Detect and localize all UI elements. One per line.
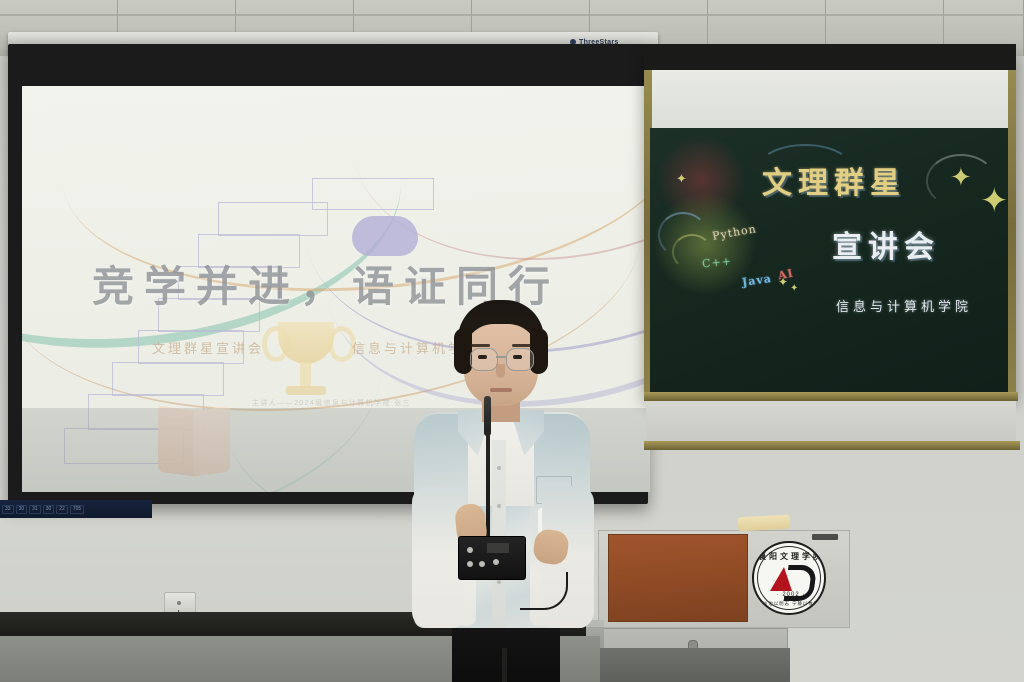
chalk-star-icon: ✦ [676,172,687,185]
staircase-graphic [312,178,434,210]
microphone-icon [484,396,491,436]
podium-paper [738,515,791,532]
receiver-knob [493,559,499,565]
seat-chip: 22 [56,505,68,514]
classroom-presentation-scene: ThreeStars [0,0,1024,682]
seat-label-strip: 33 30 31 30 22 705 [0,500,152,518]
chalk-tray-rail-lower [644,441,1020,450]
seal-motto: 淡泊以明志 宁静以致远 [754,601,826,607]
blackboard-surface: ✦ ✦ ✦ ✦ ✦ Python Java AI C++ 文理群星 宣讲会 信息… [650,128,1008,392]
blackboard-headline: 文理群星 [762,158,906,202]
trophy-icon [300,362,311,388]
university-seal: 襄阳文理学院 · 2002 · 淡泊以明志 宁静以致远 [752,541,826,615]
podium-wood-panel [608,534,748,622]
presenter: Lab [396,300,604,682]
blackboard-top-shadow [644,44,1016,70]
slide-subtitle-left: 文理群星宣讲会 [152,338,264,357]
seal-year: · 2002 · [754,592,826,598]
jacket-button [497,466,501,470]
game-controller-icon [352,216,418,256]
presenter-eye-left [478,355,487,359]
seat-chip: 30 [43,505,55,514]
presenter-nose [496,364,505,378]
presenter-hair-left [454,328,472,374]
outlet-socket-hole [177,601,181,605]
receiver-display [487,543,509,553]
podium-handle-slot [812,534,838,540]
seat-chip: 705 [70,505,84,514]
glasses-bridge [496,356,506,358]
blackboard-under-panel [646,401,1016,441]
blackboard-projection-strip [652,70,1008,128]
glasses-icon [506,348,534,371]
presenter-eye-right [513,355,522,359]
presenter-hair-right [530,328,548,374]
blackboard-headline-2: 宣讲会 [832,222,940,266]
trouser-seam [502,648,507,682]
chalk-tray-rail [644,392,1018,401]
slide-footnote: 主讲人——2024级信息与计算机学院 张三 [252,398,411,408]
staircase-graphic [112,362,224,396]
wireless-receiver-box [458,536,526,580]
seat-chip: 31 [29,505,41,514]
presenter-sleeve-left [412,486,464,628]
seat-chip: 33 [2,505,14,514]
glasses-icon [470,348,498,371]
chalk-word-ai: AI [777,267,795,283]
chalk-star-icon: ✦ [980,184,1008,218]
presenter-brow-right [512,344,532,347]
blackboard-subline: 信息与计算机学院 [836,296,972,315]
chalk-star-icon: ✦ [790,284,798,294]
receiver-knob [479,561,485,567]
receiver-knob [467,561,473,567]
jacket-button [497,504,501,508]
seal-university-name: 襄阳文理学院 [754,551,826,562]
chalk-word-java: Java [741,272,772,289]
seat-chip: 30 [16,505,28,514]
receiver-knob [467,547,473,553]
jacket-button [497,580,501,584]
trophy-icon [286,386,326,395]
chalk-star-icon: ✦ [950,164,972,190]
presenter-mouth [490,388,512,392]
presenter-brow-left [470,344,490,347]
